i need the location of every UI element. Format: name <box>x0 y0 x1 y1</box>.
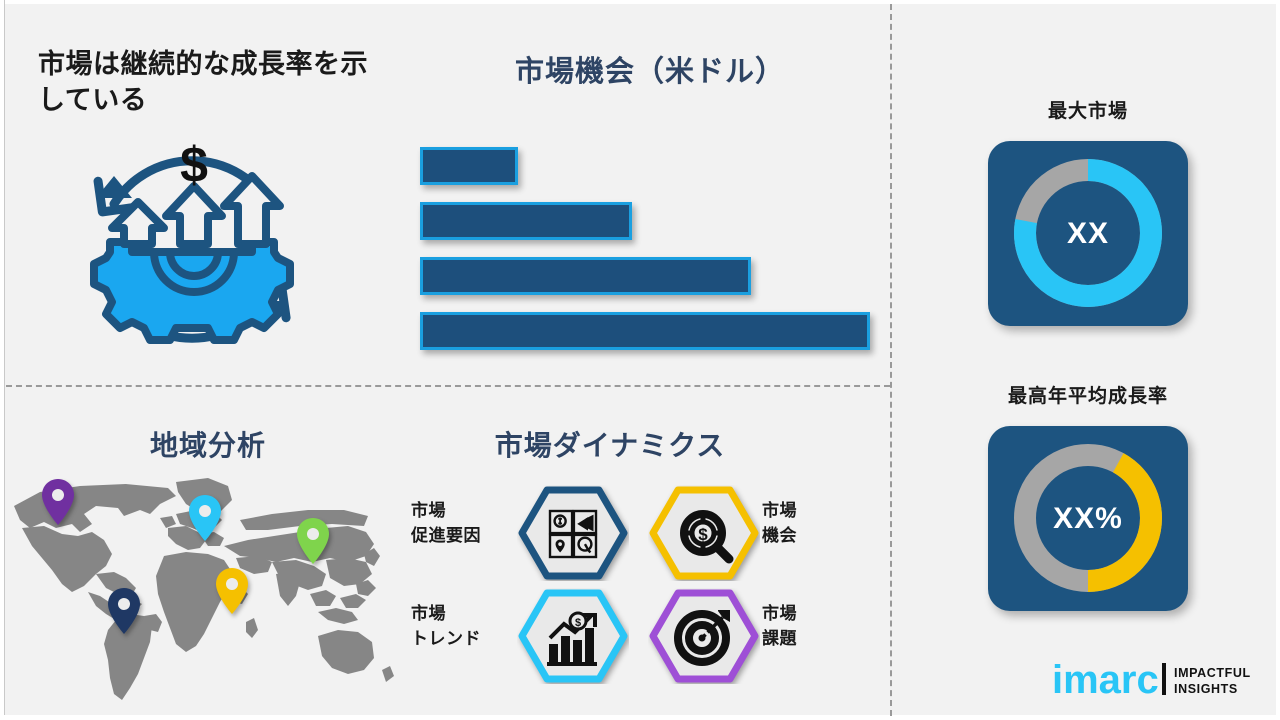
growth-title: 市場は継続的な成長率を示している <box>38 46 388 119</box>
dynamics-item-opportunities[interactable]: $ 市場 機会 <box>640 485 875 581</box>
slide-canvas: 市場は継続的な成長率を示している $ 市場機会（米ドル） 最大市場 <box>0 0 1280 720</box>
world-map <box>0 462 400 712</box>
logo-wordmark: imarc <box>1052 658 1159 702</box>
hexagon-opportunities[interactable]: $ <box>648 485 760 581</box>
frame-right-edge <box>1276 0 1280 720</box>
pin-africa[interactable] <box>216 568 248 614</box>
region-analysis-title: 地域分析 <box>150 424 266 464</box>
vertical-dashed-divider <box>890 4 892 716</box>
hexagon-challenges[interactable] <box>648 588 760 684</box>
bar-row <box>420 202 632 240</box>
largest-market-label: 最大市場 <box>958 96 1218 123</box>
bar-row <box>420 257 751 295</box>
logo-tagline-line2: INSIGHTS <box>1174 682 1238 696</box>
largest-market-value: XX <box>988 141 1188 326</box>
dynamics-item-challenges[interactable]: 市場 課題 <box>640 588 875 684</box>
highest-cagr-donut-card: XX% <box>988 426 1188 611</box>
dollar-sign-glyph: $ <box>180 137 208 193</box>
dynamics-label-challenges: 市場 課題 <box>762 602 870 651</box>
highest-cagr-value: XX% <box>988 426 1188 611</box>
dynamics-item-trends[interactable]: 市場 トレンド $ <box>405 588 640 684</box>
hexagon-trends[interactable]: $ <box>517 588 629 684</box>
dynamics-label-trends: 市場 トレンド <box>411 602 511 651</box>
frame-bottom-edge <box>0 715 1280 720</box>
horizontal-dashed-divider <box>6 385 890 387</box>
frame-top-edge <box>0 0 1280 4</box>
bar-row <box>420 147 518 185</box>
hexagon-drivers[interactable] <box>517 485 629 581</box>
imarc-logo: imarc IMPACTFUL INSIGHTS <box>1052 655 1252 703</box>
market-opportunity-title: 市場機会（米ドル） <box>420 48 880 90</box>
dynamics-item-drivers[interactable]: 市場 促進要因 <box>405 485 640 581</box>
target-dart-icon <box>678 610 730 662</box>
logo-divider-bar <box>1162 663 1166 695</box>
dynamics-label-opportunities: 市場 機会 <box>762 499 870 548</box>
largest-market-donut-card: XX <box>988 141 1188 326</box>
svg-text:$: $ <box>575 617 581 629</box>
highest-cagr-label: 最高年平均成長率 <box>958 381 1218 408</box>
market-opportunity-bar-chart <box>418 140 888 360</box>
svg-text:$: $ <box>698 525 708 544</box>
dynamics-label-drivers: 市場 促進要因 <box>411 499 511 548</box>
market-dynamics-title: 市場ダイナミクス <box>410 424 810 464</box>
bar-row <box>420 312 870 350</box>
growth-cycle-gear-icon: $ <box>72 132 312 367</box>
logo-tagline-line1: IMPACTFUL <box>1174 666 1251 680</box>
